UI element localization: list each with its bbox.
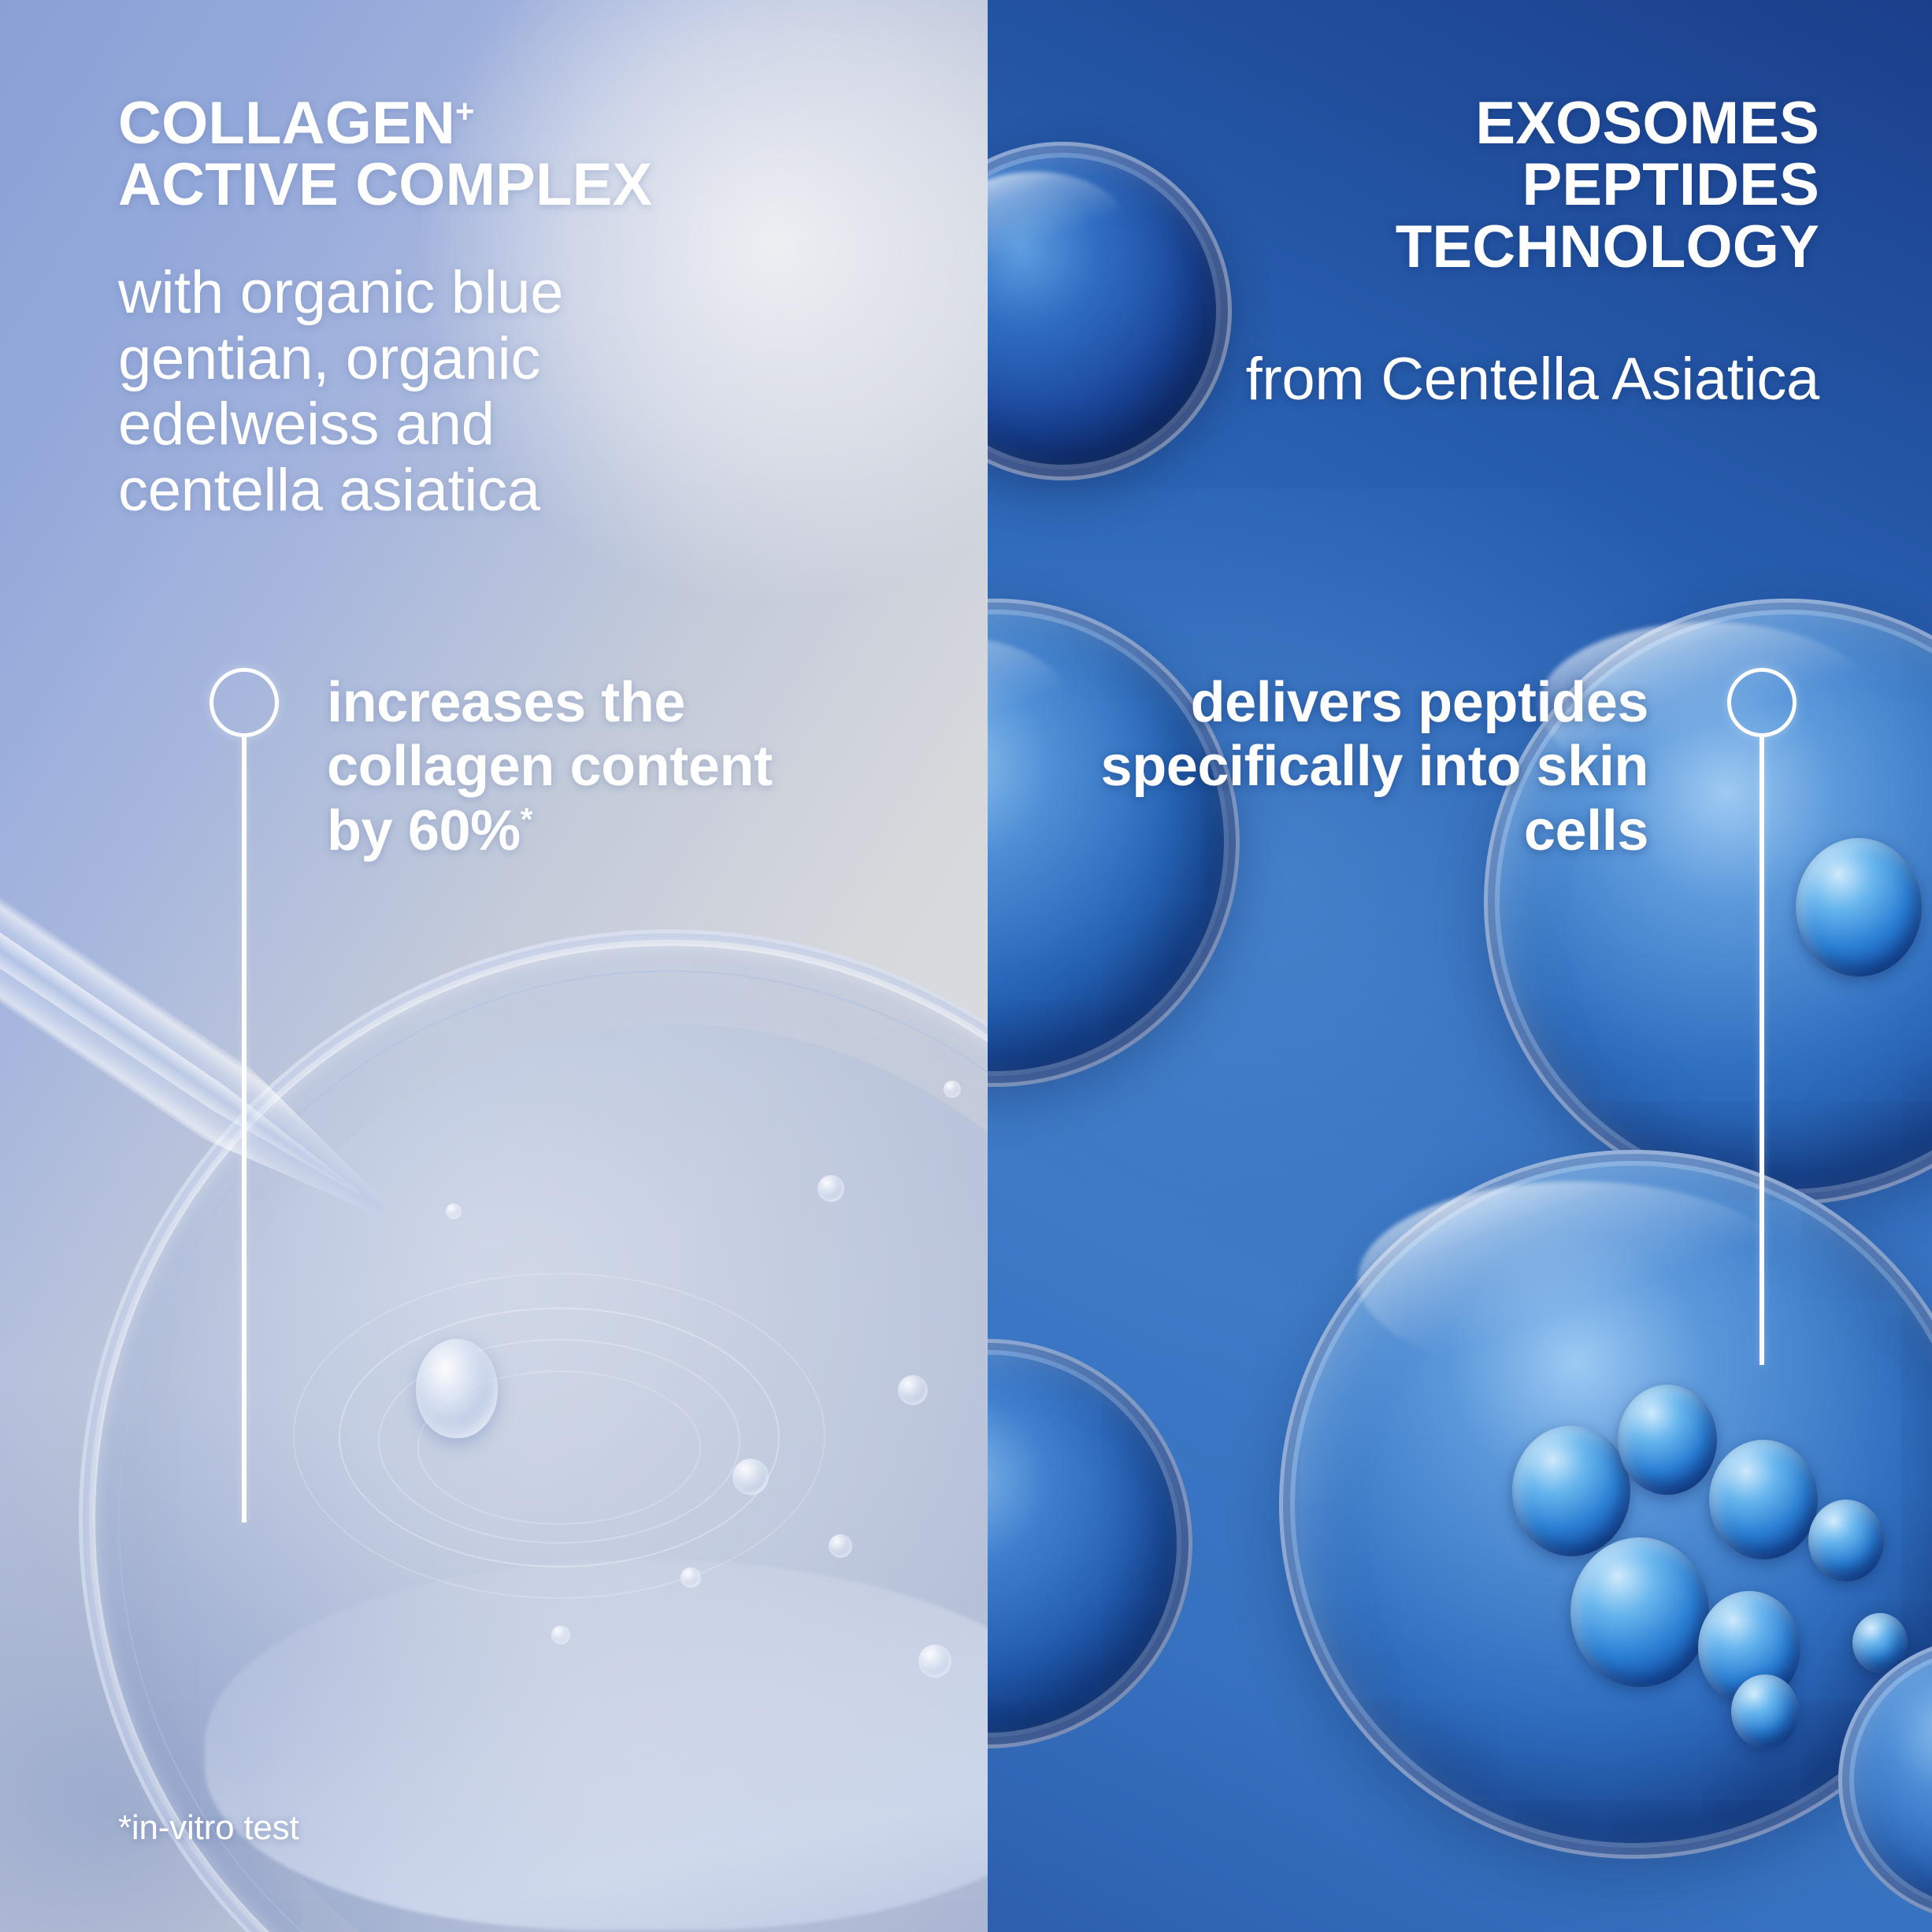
- inner-droplet: [1731, 1674, 1799, 1748]
- left-heading-line1: COLLAGEN: [118, 90, 455, 157]
- gel-bubble: [829, 1534, 852, 1558]
- right-subheading: from Centella Asiatica: [1246, 347, 1819, 413]
- right-heading-line3: TECHNOLOGY: [1396, 213, 1819, 280]
- sphere-gloss: [1358, 1181, 1799, 1378]
- inner-droplet: [1618, 1385, 1717, 1495]
- liquid-droplet: [416, 1339, 498, 1438]
- inner-droplet: [1808, 1500, 1884, 1582]
- circle-marker-stem: [1760, 737, 1764, 1365]
- gel-bubble: [944, 1081, 961, 1098]
- left-subheading: with organic blue gentian, organic edelw…: [118, 260, 606, 523]
- left-callout-asterisk: *: [521, 801, 532, 837]
- inner-droplet: [1570, 1537, 1709, 1687]
- right-heading-line2: PEPTIDES: [1522, 151, 1819, 218]
- left-panel: COLLAGEN+ ACTIVE COMPLEX with organic bl…: [0, 0, 988, 1932]
- gel-bubble: [898, 1375, 928, 1405]
- circle-marker-ring: [210, 668, 279, 737]
- gel-bubble: [446, 1203, 462, 1219]
- right-callout: delivers peptides specifically into skin…: [1097, 671, 1648, 863]
- gel-bubble: [818, 1175, 844, 1202]
- right-heading-line1: EXOSOMES: [1475, 90, 1819, 157]
- circle-marker-ring: [1727, 668, 1797, 737]
- inner-droplet: [1512, 1426, 1630, 1556]
- inner-droplet: [1709, 1440, 1818, 1559]
- left-heading-superscript: +: [455, 93, 475, 130]
- gel-bubble: [732, 1459, 769, 1495]
- right-panel: EXOSOMES PEPTIDES TECHNOLOGY from Centel…: [988, 0, 1932, 1932]
- left-callout: increases the collagen content by 60%*: [327, 671, 831, 863]
- inner-droplet: [1796, 838, 1922, 977]
- footnote: *in-vitro test: [118, 1808, 299, 1848]
- left-heading-line2: ACTIVE COMPLEX: [118, 151, 652, 218]
- product-infographic: COLLAGEN+ ACTIVE COMPLEX with organic bl…: [0, 0, 1932, 1932]
- gel-bubble: [680, 1567, 701, 1588]
- circle-marker-stem: [242, 737, 247, 1522]
- gel-bubble: [551, 1626, 570, 1645]
- gel-bubble: [918, 1645, 951, 1678]
- right-heading: EXOSOMES PEPTIDES TECHNOLOGY: [1396, 93, 1819, 278]
- left-heading: COLLAGEN+ ACTIVE COMPLEX: [118, 93, 652, 217]
